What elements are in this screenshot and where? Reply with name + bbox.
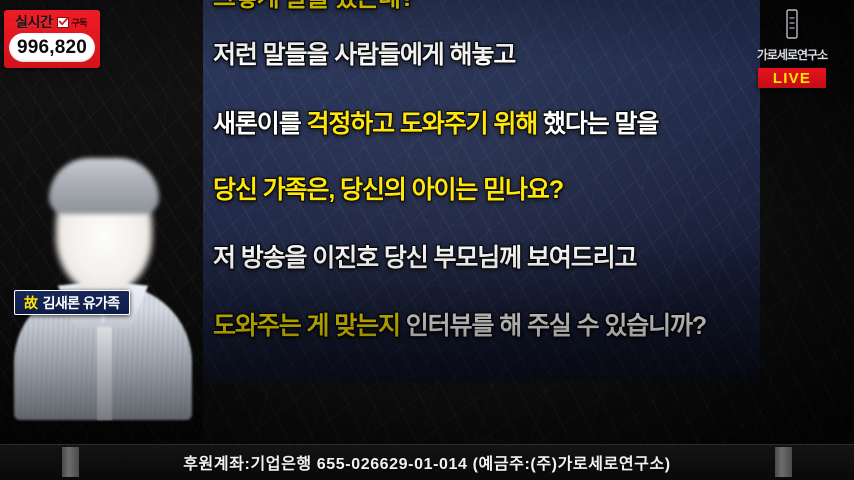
subscribe-chip-label: 구독 <box>70 16 88 29</box>
subscribe-chip[interactable]: 구독 <box>56 16 89 29</box>
subtitle-line: 저 방송을 이진호 당신 부모님께 보여드리고 <box>213 246 754 271</box>
subtitle-highlight-segment: 그렇게 말을 했는데? <box>213 0 414 12</box>
banner-cap-right <box>775 447 792 477</box>
subtitle-segment: 했다는 말을 <box>537 110 658 138</box>
subtitle-line: 새론이를 걱정하고 도와주기 위해 했다는 말을 <box>213 112 754 137</box>
live-badge-label: LIVE <box>773 70 811 87</box>
channel-branding: 가로세로연구소 LIVE <box>736 4 848 88</box>
realtime-label: 실시간 <box>15 12 52 32</box>
donation-banner-top-edge <box>0 444 854 445</box>
guest-name-text: 김새론 유가족 <box>43 293 120 313</box>
subtitle-segment: 저 방송을 이진호 당신 부모님께 보여드리고 <box>213 244 636 272</box>
subtitle-segment: 저런 말들을 사람들에게 해놓고 <box>213 41 515 69</box>
channel-name: 가로세로연구소 <box>757 46 827 63</box>
channel-mark-icon <box>782 4 802 44</box>
guest-name-prefix: 故 <box>24 293 38 313</box>
subtitle-highlight-segment: 도와주는 게 맞는지 <box>213 312 400 340</box>
guest-name-tag: 故 김새론 유가족 <box>14 290 130 315</box>
broadcast-screen: 실시간 구독 996,820 故 김새론 유가족 그렇게 말을 했는데?저런 말… <box>0 0 854 480</box>
realtime-badge-header: 실시간 구독 <box>15 13 89 31</box>
subtitle-panel: 그렇게 말을 했는데?저런 말들을 사람들에게 해놓고새론이를 걱정하고 도와주… <box>203 0 760 381</box>
checkmark-icon <box>57 17 69 28</box>
subtitle-line: 그렇게 말을 했는데? <box>213 0 754 11</box>
subtitle-line: 저런 말들을 사람들에게 해놓고 <box>213 43 754 68</box>
donation-account-text: 후원계좌:기업은행 655-026629-01-014 (예금주:(주)가로세로… <box>183 450 671 474</box>
subtitle-highlight-segment: 당신 가족은, 당신의 아이는 믿나요? <box>213 176 563 204</box>
subscriber-count-pill: 996,820 <box>9 33 95 62</box>
banner-cap-left <box>62 447 79 477</box>
subtitle-line: 당신 가족은, 당신의 아이는 믿나요? <box>213 178 754 203</box>
subtitle-segment: 인터뷰를 해 주실 수 있습니까? <box>400 312 706 340</box>
live-badge: LIVE <box>758 68 826 88</box>
subtitle-highlight-segment: 걱정하고 도와주기 위해 <box>306 110 537 138</box>
subtitle-segment: 새론이를 <box>213 110 306 138</box>
donation-banner: 후원계좌:기업은행 655-026629-01-014 (예금주:(주)가로세로… <box>0 444 854 480</box>
subscriber-count-value: 996,820 <box>17 37 87 59</box>
subtitle-line-list: 그렇게 말을 했는데?저런 말들을 사람들에게 해놓고새론이를 걱정하고 도와주… <box>203 0 760 381</box>
subtitle-line: 도와주는 게 맞는지 인터뷰를 해 주실 수 있습니까? <box>213 314 754 339</box>
realtime-subscriber-badge: 실시간 구독 996,820 <box>4 10 100 68</box>
